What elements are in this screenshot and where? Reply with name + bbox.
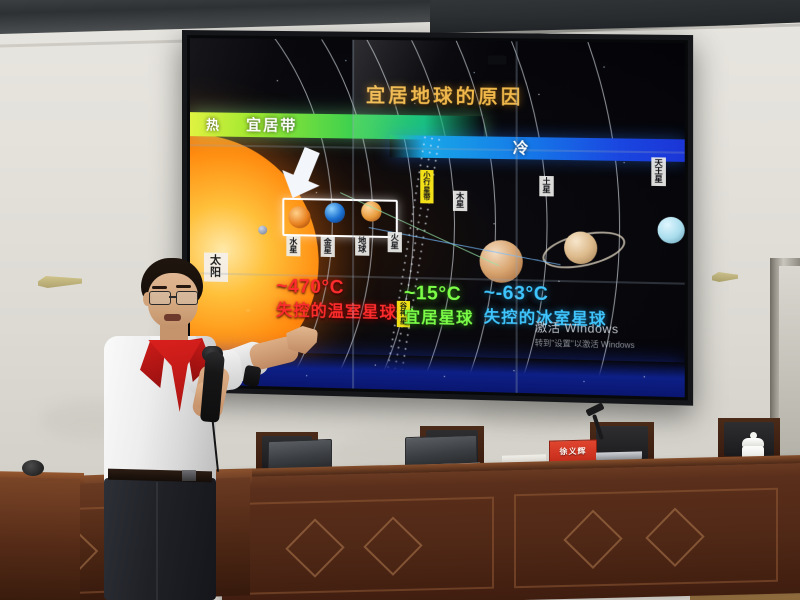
presenter-eyebrow (176, 285, 191, 288)
planet-label-mercury: 水星 (286, 236, 300, 256)
trouser-crease (156, 482, 158, 600)
callout-caption: 失控的温室星球 (276, 296, 397, 323)
planet-label-mars: 火星 (388, 232, 402, 252)
conference-desk-front (222, 463, 800, 600)
planet-uranus-graphic (658, 217, 685, 244)
belt-buckle (182, 470, 196, 481)
callout-earth: ~15°C 宜居星球 (404, 283, 474, 329)
display-tile-seam (516, 41, 518, 392)
camera-icon (488, 55, 507, 64)
band-label-hot: 热 (206, 114, 219, 133)
windows-activation-watermark: 激活 Windows 转到"设置"以激活 Windows (535, 318, 635, 351)
presenter-trousers (104, 478, 216, 600)
nameplate: 徐义辉 (549, 439, 597, 462)
inner-planets-highlight-box (282, 198, 398, 238)
slide-title: 宜居地球的原因 (366, 80, 524, 109)
belt-label-asteroid: 小行星带 (420, 170, 433, 204)
sun-label: 太阳 (204, 252, 228, 282)
callout-caption: 宜居星球 (404, 303, 474, 329)
planet-label-uranus: 天王星 (651, 157, 666, 186)
band-label-habitable: 宜居带 (246, 114, 297, 136)
presenter-eyebrow (152, 286, 167, 289)
planet-mercury-dot (258, 225, 267, 234)
planet-label-venus: 金星 (321, 237, 335, 257)
side-cabinet (0, 477, 80, 600)
display-tile-seam (352, 40, 354, 389)
wristwatch (242, 365, 261, 387)
planet-label-saturn: 土星 (539, 176, 553, 197)
eyeglasses-right-lens (176, 291, 198, 305)
watermark-line-2: 转到"设置"以激活 Windows (535, 337, 635, 351)
planet-saturn-graphic (564, 231, 597, 264)
watermark-line-1: 激活 Windows (535, 318, 635, 338)
presenter-mouth (164, 314, 181, 321)
desk-microphone-base[interactable] (22, 460, 44, 476)
eyeglasses-left-lens (149, 291, 171, 305)
nameplate-text: 徐义辉 (560, 445, 587, 457)
photo-scene: 太阳 热 宜居带 冷 宜居地球的原因 (0, 0, 800, 600)
planet-label-earth: 地球 (355, 235, 369, 255)
callout-venus: ~470°C 失控的温室星球 (276, 276, 397, 323)
planet-label-jupiter: 木星 (453, 191, 467, 212)
eyeglasses-bridge (169, 296, 176, 298)
door-panel[interactable] (779, 266, 800, 456)
